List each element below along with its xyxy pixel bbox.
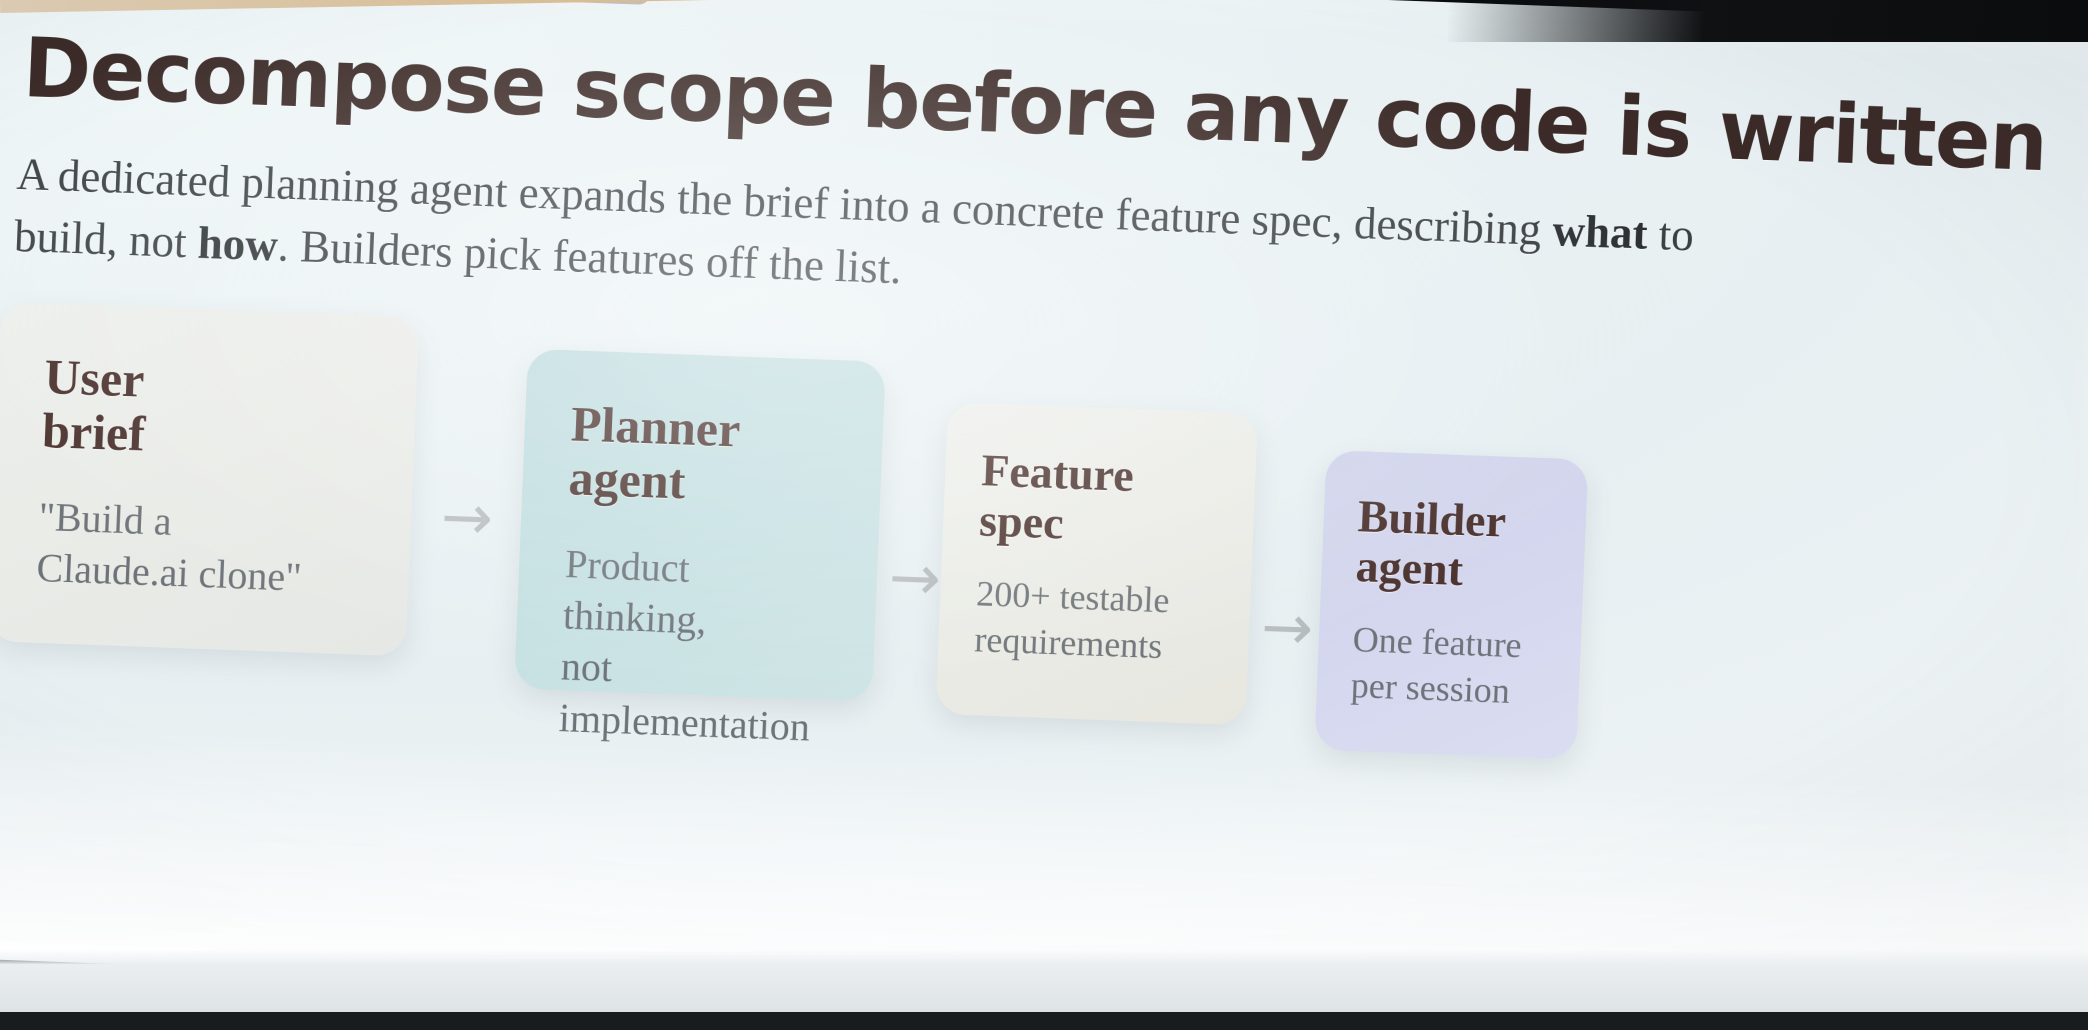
card-title: Planneragent — [568, 396, 844, 514]
subtitle-part-3: . Builders pick features off the list. — [277, 221, 903, 294]
card-body: Product thinking,not implementation — [558, 538, 838, 753]
card-title: Userbrief — [41, 349, 377, 469]
projected-slide: Technique 3 Decompose scope before any c… — [0, 0, 2088, 1030]
card-body: One featureper session — [1350, 616, 1554, 715]
slide-subtitle: A dedicated planning agent expands the b… — [13, 143, 1737, 330]
slide-photo: Technique 3 Decompose scope before any c… — [0, 0, 2088, 1030]
arrow-right-icon-2: → — [888, 546, 942, 610]
arrow-right-icon-3: → — [1260, 596, 1314, 660]
pipeline-card-user-brief: Userbrief "Build aClaude.ai clone" — [0, 301, 419, 656]
room-floor-edge — [0, 1012, 2088, 1030]
pipeline-card-planner-agent: Planneragent Product thinking,not implem… — [514, 349, 886, 702]
pipeline-card-builder-agent: Builderagent One featureper session — [1314, 450, 1588, 759]
card-body: 200+ testablerequirements — [974, 571, 1222, 672]
slide-canvas: Technique 3 Decompose scope before any c… — [0, 0, 2088, 1030]
card-body: "Build aClaude.ai clone" — [36, 491, 372, 605]
pipeline-card-feature-spec: Featurespec 200+ testablerequirements — [935, 402, 1258, 725]
room-top-right-shadow — [1448, 0, 2088, 42]
pipeline-diagram: Userbrief "Build aClaude.ai clone" → Pla… — [0, 301, 2060, 776]
subtitle-bold-what: what — [1552, 205, 1649, 258]
card-title: Builderagent — [1355, 491, 1559, 598]
subtitle-bold-how: how — [197, 218, 279, 271]
arrow-right-icon-1: → — [440, 486, 494, 550]
card-title: Featurespec — [978, 445, 1226, 553]
